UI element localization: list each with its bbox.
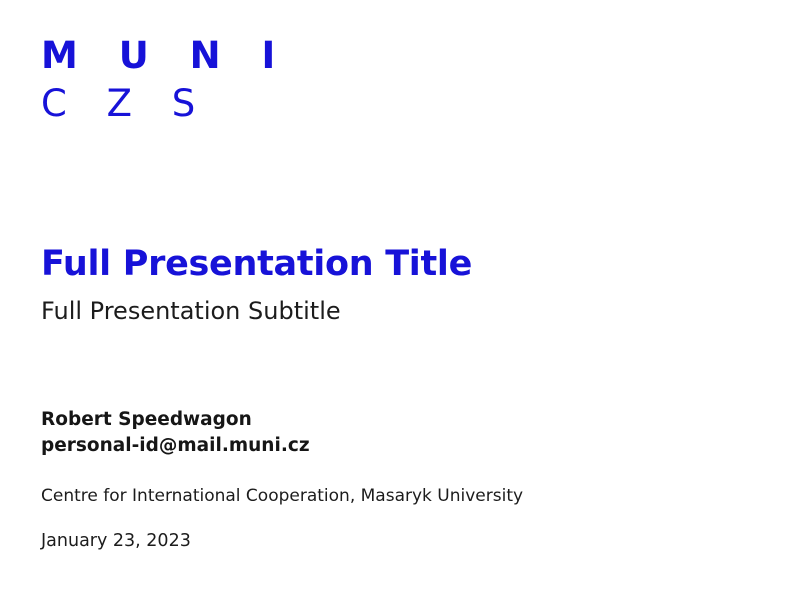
logo-text-muni: M U N I (41, 36, 289, 76)
logo-text-czs: C Z S (41, 84, 289, 124)
author-affiliation: Centre for International Cooperation, Ma… (41, 484, 741, 508)
presentation-title-slide: M U N I C Z S Full Presentation Title Fu… (0, 0, 794, 596)
author-name: Robert Speedwagon (41, 407, 741, 433)
presentation-title: Full Presentation Title (41, 243, 741, 285)
author-email: personal-id@mail.muni.cz (41, 433, 741, 459)
author-meta-block: Robert Speedwagon personal-id@mail.muni.… (41, 407, 741, 553)
title-block: Full Presentation Title Full Presentatio… (41, 243, 741, 326)
muni-czs-logo: M U N I C Z S (41, 36, 289, 124)
presentation-subtitle: Full Presentation Subtitle (41, 296, 741, 326)
presentation-date: January 23, 2023 (41, 529, 741, 553)
